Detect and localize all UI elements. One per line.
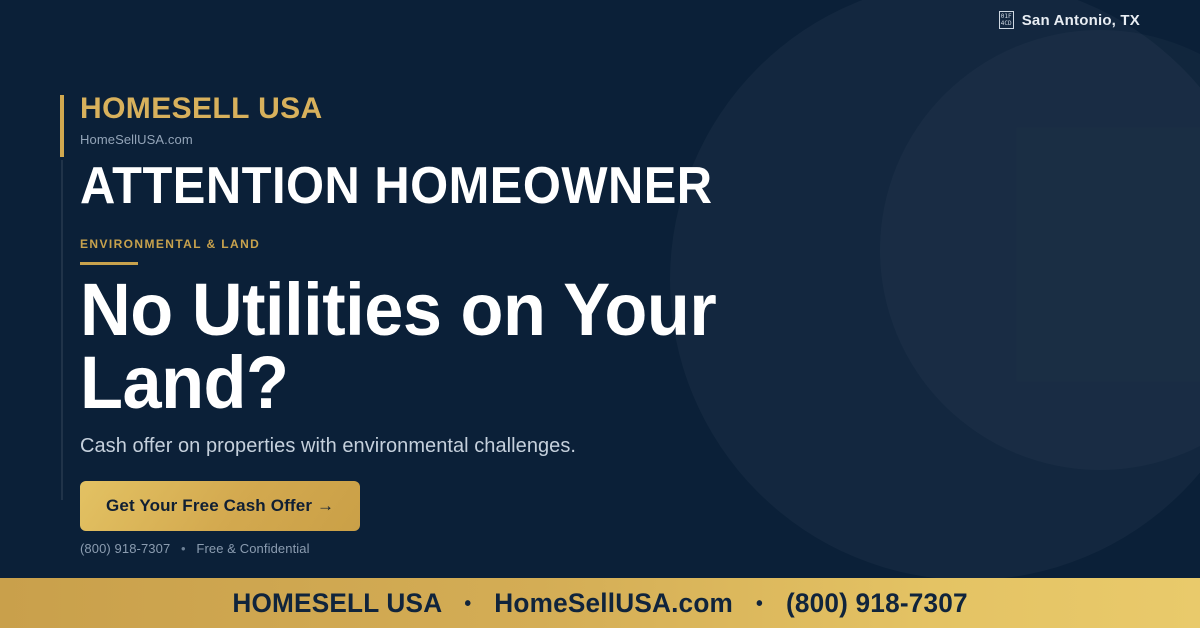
page-title: No Utilities on Your Land? [80, 274, 774, 419]
trust-row: (800) 918-7307 • Free & Confidential [80, 541, 310, 556]
subheadline: Cash offer on properties with environmen… [80, 435, 576, 458]
location-label: San Antonio, TX [1022, 12, 1140, 29]
footer-separator-2: • [756, 593, 763, 615]
trust-separator: • [181, 541, 186, 556]
gold-accent-bar [60, 95, 64, 157]
footer-website[interactable]: HomeSellUSA.com [494, 588, 733, 618]
attention-heading: ATTENTION HOMEOWNER [80, 158, 713, 214]
eyebrow-underline [80, 262, 138, 265]
footer-phone[interactable]: (800) 918-7307 [786, 588, 968, 618]
map-pin-icon-codepoint-high: 01F [1001, 13, 1012, 20]
cta-button[interactable]: Get Your Free Cash Offer → [80, 481, 360, 531]
footer-bar: HOMESELL USA • HomeSellUSA.com • (800) 9… [0, 578, 1200, 628]
footer-separator-1: • [464, 593, 471, 615]
map-pin-icon-codepoint-low: 4CD [1001, 20, 1012, 27]
trust-phone[interactable]: (800) 918-7307 [80, 541, 170, 556]
brand-block: HOMESELL USA HomeSellUSA.com [80, 93, 1140, 147]
footer-brand: HOMESELL USA [232, 588, 441, 618]
location-badge: 01F 4CD San Antonio, TX [999, 11, 1140, 29]
brand-name: HOMESELL USA [80, 93, 1140, 125]
footer-contact-line: HOMESELL USA • HomeSellUSA.com • (800) 9… [232, 588, 967, 619]
ad-banner: HOMESELL USA HomeSellUSA.com 01F 4CD San… [0, 0, 1200, 628]
vertical-divider-line [61, 160, 63, 500]
category-eyebrow: ENVIRONMENTAL & LAND [80, 237, 260, 251]
brand-website: HomeSellUSA.com [80, 132, 1140, 147]
trust-note: Free & Confidential [196, 541, 309, 556]
map-pin-icon: 01F 4CD [999, 11, 1014, 29]
